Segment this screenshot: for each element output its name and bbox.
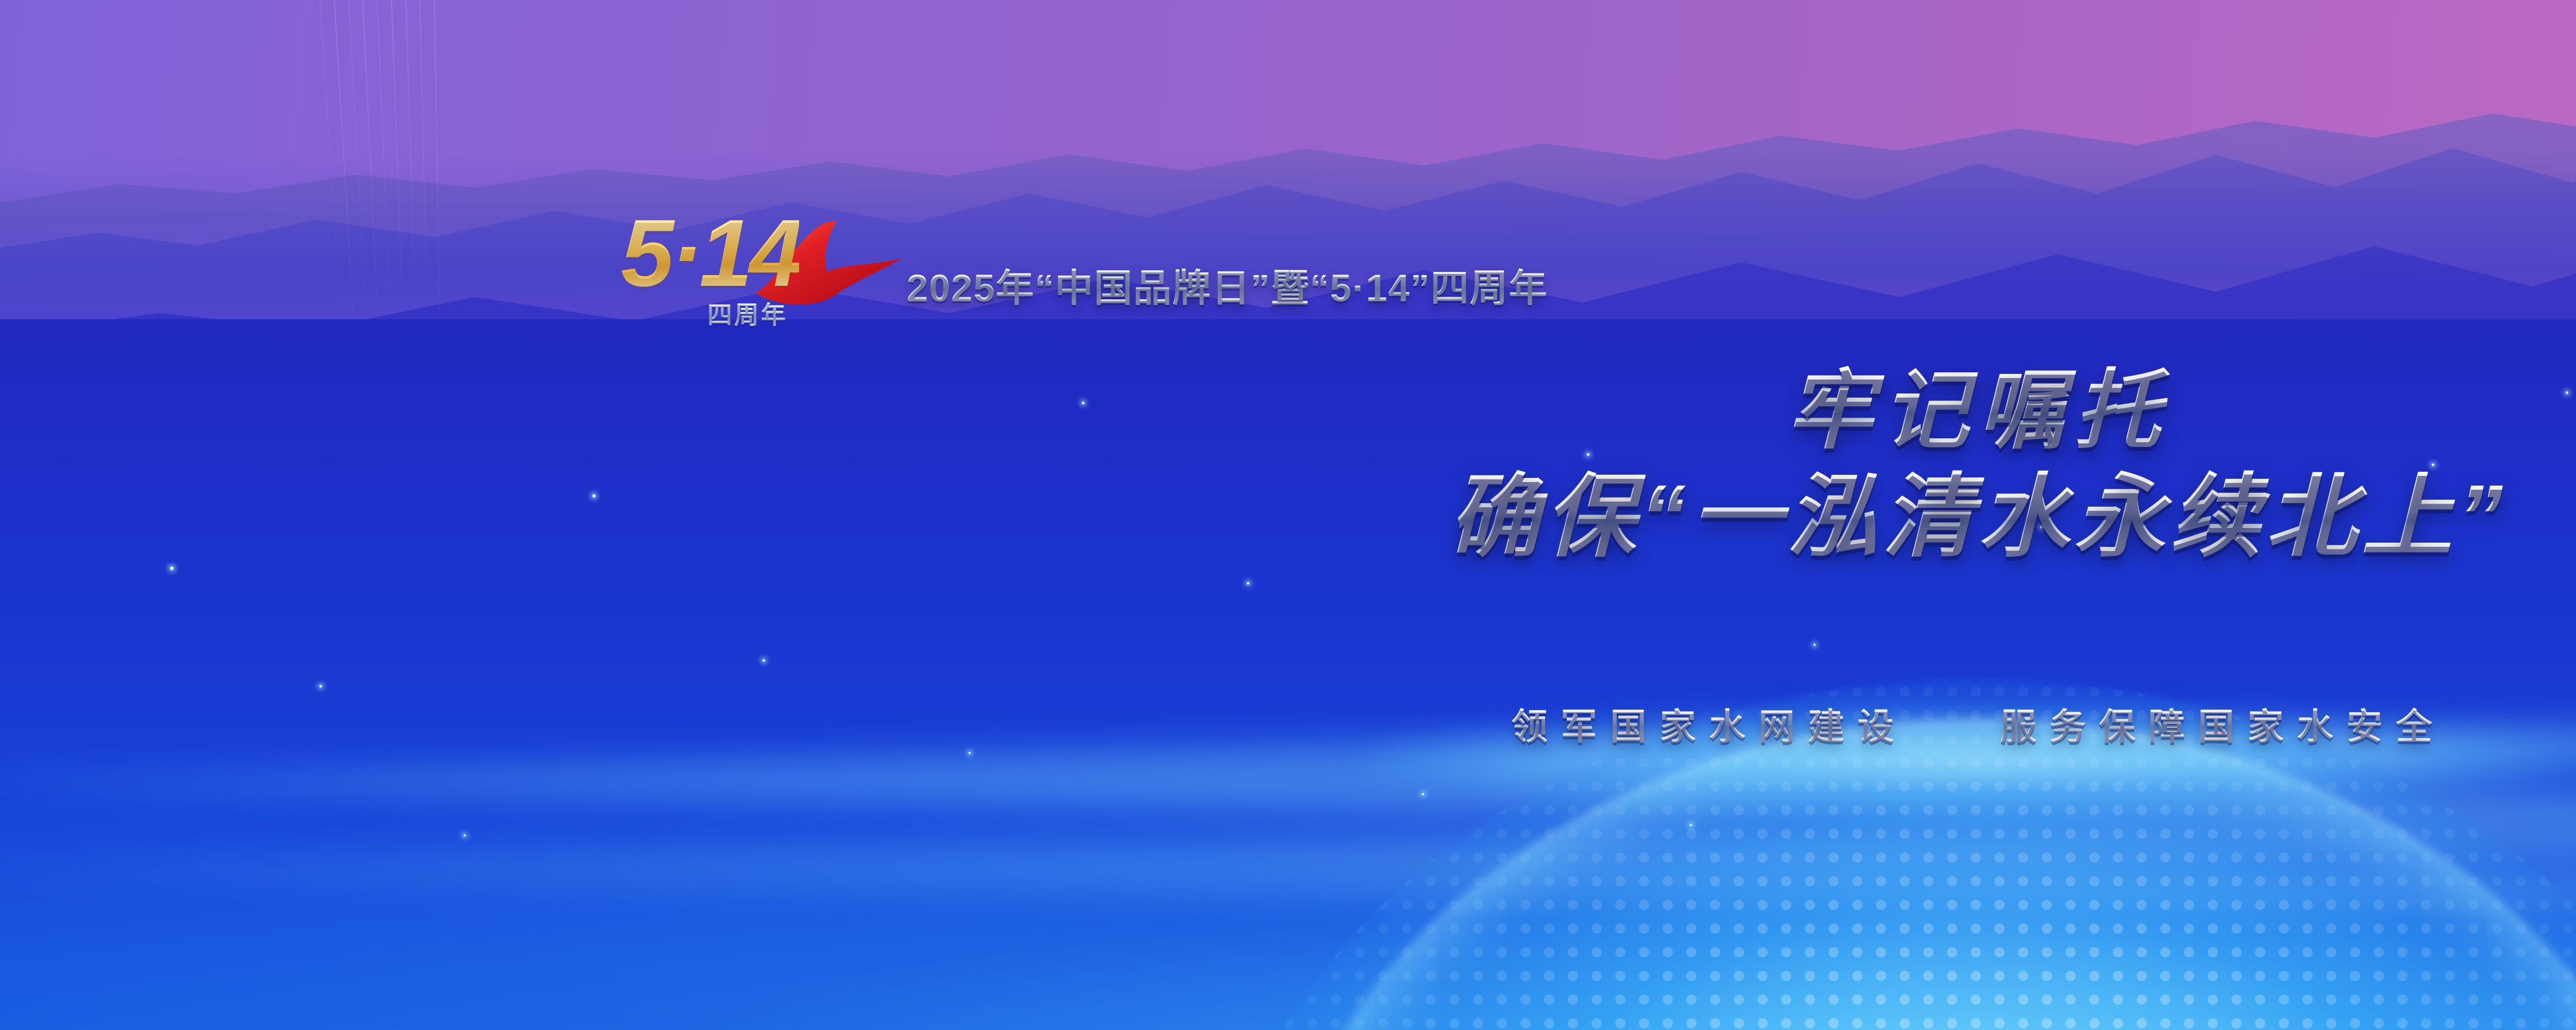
- headline-line-1: 牢记嘱托: [0, 360, 2576, 461]
- headline-line-2: 确保“一泓清水永续北上”: [0, 464, 2576, 571]
- subtitle-line: 领军国家水网建设 服务保障国家水安全: [0, 698, 2576, 750]
- anniversary-label: 四周年: [707, 295, 788, 331]
- banner-stage: 5·14 四周年 2025年“中国品牌日”暨“5·14”四周年: [0, 0, 2576, 1030]
- anniversary-number: 5·14: [621, 206, 799, 301]
- event-dateline: 2025年“中国品牌日”暨“5·14”四周年: [907, 257, 1548, 313]
- subtitle-left: 领军国家水网建设: [1512, 707, 1907, 747]
- subtitle-right: 服务保障国家水安全: [2000, 707, 2445, 747]
- banner-content: 5·14 四周年 2025年“中国品牌日”暨“5·14”四周年: [0, 0, 2576, 1030]
- anniversary-logo: 5·14 四周年: [621, 206, 889, 340]
- headline-block: 牢记嘱托 确保“一泓清水永续北上”: [0, 360, 2576, 571]
